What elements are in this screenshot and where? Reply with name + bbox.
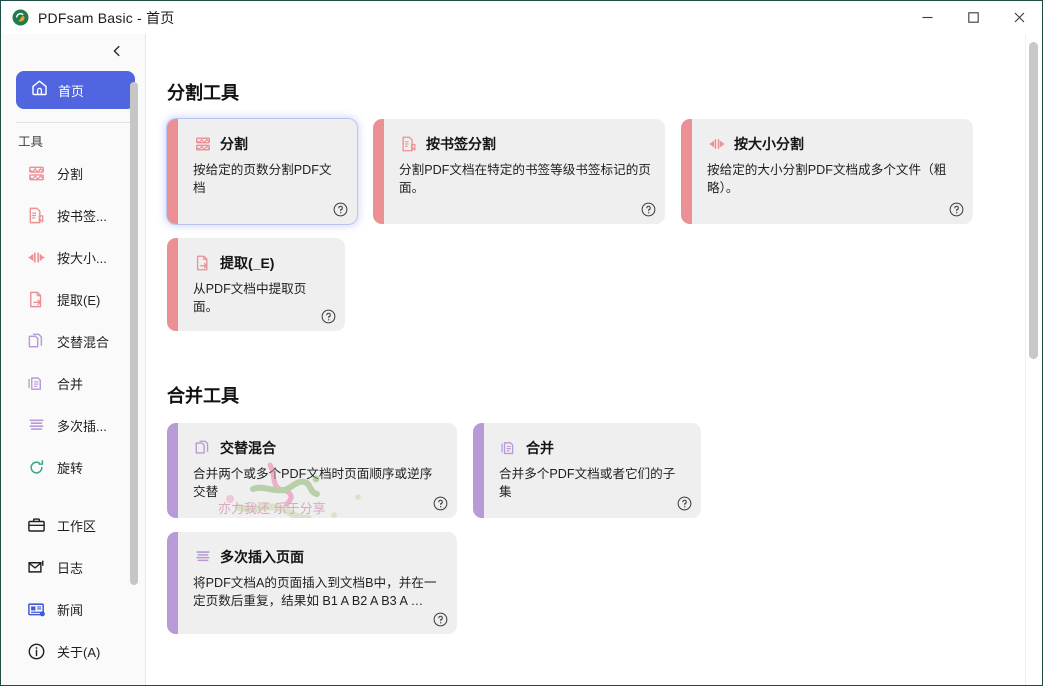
card-merge[interactable]: 合并 合并多个PDF文档或者它们的子集 (473, 423, 701, 518)
sidebar-collapse-row (2, 34, 145, 68)
help-icon[interactable] (433, 496, 448, 511)
card-split[interactable]: 分割 按给定的页数分割PDF文档 (167, 119, 357, 224)
split-tools-row-2: 提取(_E) 从PDF文档中提取页面。 (167, 238, 1026, 331)
sidebar-item-rotate[interactable]: 旋转 (2, 446, 145, 488)
section-title-split: 分割工具 (167, 79, 1026, 105)
sidebar-item-log[interactable]: 日志 (2, 546, 145, 588)
extract-icon (193, 254, 212, 273)
alternate-mix-icon (26, 331, 47, 352)
window-title: PDFsam Basic - 首页 (38, 8, 174, 28)
split-icon (26, 163, 47, 184)
card-repeat-insert[interactable]: 多次插入页面 将PDF文档A的页面插入到文档B中，并在一定页数后重复，结果如 B… (167, 532, 457, 634)
sidebar-item-label-home: 首页 (58, 81, 84, 100)
card-accent-bar (167, 423, 178, 518)
repeat-insert-icon (26, 415, 47, 436)
card-accent-bar (167, 238, 178, 331)
merge-icon (26, 373, 47, 394)
card-split-by-size[interactable]: 按大小分割 按给定的大小分割PDF文档成多个文件（粗略）。 (681, 119, 973, 224)
card-extract[interactable]: 提取(_E) 从PDF文档中提取页面。 (167, 238, 345, 331)
merge-tools-row-1: 交替混合 合并两个或多个PDF文档时页面顺序或逆序交替 (167, 423, 1026, 518)
watermark-text: 亦力我还 乐于分享 (218, 501, 326, 516)
merge-tools-row-2: 多次插入页面 将PDF文档A的页面插入到文档B中，并在一定页数后重复，结果如 B… (167, 532, 1026, 634)
alternate-mix-icon (193, 439, 212, 458)
sidebar-item-split[interactable]: 分割 (2, 152, 145, 194)
card-description: 按给定的页数分割PDF文档 (193, 161, 343, 197)
card-body: 按书签分割 分割PDF文档在特定的书签等级书签标记的页面。 (384, 119, 665, 224)
news-icon (26, 599, 47, 620)
main-content: 分割工具 分割 (146, 34, 1026, 686)
sidebar-item-label: 合并 (57, 374, 83, 393)
pdfsam-logo-icon (12, 9, 29, 26)
split-tools-row-1: 分割 按给定的页数分割PDF文档 (167, 119, 1026, 224)
sidebar-section-tools: 工具 (18, 131, 145, 150)
card-description: 合并两个或多个PDF文档时页面顺序或逆序交替 (193, 465, 443, 501)
merge-icon (499, 439, 518, 458)
sidebar-item-label: 提取(E) (57, 290, 100, 309)
help-icon[interactable] (949, 202, 964, 217)
split-icon (193, 135, 212, 154)
split-by-bookmark-icon (26, 205, 47, 226)
rotate-icon (26, 457, 47, 478)
card-title: 分割 (220, 134, 248, 154)
card-header: 提取(_E) (193, 253, 331, 273)
sidebar-item-workspace[interactable]: 工作区 (2, 504, 145, 546)
card-description: 按给定的大小分割PDF文档成多个文件（粗略）。 (707, 161, 959, 197)
title-bar: PDFsam Basic - 首页 (1, 1, 1042, 34)
card-body: 按大小分割 按给定的大小分割PDF文档成多个文件（粗略）。 (692, 119, 973, 224)
card-description: 合并多个PDF文档或者它们的子集 (499, 465, 687, 501)
sidebar-item-label: 多次插... (57, 416, 107, 435)
log-mail-icon (26, 557, 47, 578)
sidebar-item-label: 分割 (57, 164, 83, 183)
card-header: 分割 (193, 134, 343, 154)
sidebar-item-label: 按书签... (57, 206, 107, 225)
card-body: 多次插入页面 将PDF文档A的页面插入到文档B中，并在一定页数后重复，结果如 B… (178, 532, 457, 634)
sidebar-item-split-by-size[interactable]: 按大小... (2, 236, 145, 278)
split-by-size-icon (26, 247, 47, 268)
section-title-merge: 合并工具 (167, 382, 1026, 408)
card-accent-bar (373, 119, 384, 224)
card-title: 提取(_E) (220, 253, 274, 273)
card-title: 多次插入页面 (220, 547, 304, 567)
card-title: 合并 (526, 438, 554, 458)
sidebar-item-label: 日志 (57, 558, 83, 577)
card-body: 提取(_E) 从PDF文档中提取页面。 (178, 238, 345, 331)
sidebar-item-label: 交替混合 (57, 332, 109, 351)
sidebar-bottom-gap (2, 488, 145, 504)
help-icon[interactable] (333, 202, 348, 217)
card-body: 合并 合并多个PDF文档或者它们的子集 (484, 423, 701, 518)
info-icon (26, 641, 47, 662)
extract-icon (26, 289, 47, 310)
card-accent-bar (473, 423, 484, 518)
card-header: 合并 (499, 438, 687, 458)
card-header: 按书签分割 (399, 134, 651, 154)
close-button[interactable] (996, 1, 1042, 34)
card-accent-bar (681, 119, 692, 224)
minimize-button[interactable] (904, 1, 950, 34)
card-header: 交替混合 (193, 438, 443, 458)
maximize-button[interactable] (950, 1, 996, 34)
sidebar-item-label: 工作区 (57, 516, 96, 535)
page-scrollbar[interactable] (1029, 42, 1038, 359)
card-description: 从PDF文档中提取页面。 (193, 280, 331, 316)
card-header: 多次插入页面 (193, 547, 443, 567)
card-description: 分割PDF文档在特定的书签等级书签标记的页面。 (399, 161, 651, 197)
sidebar-item-alternate-mix[interactable]: 交替混合 (2, 320, 145, 362)
card-body: 分割 按给定的页数分割PDF文档 (178, 119, 357, 224)
help-icon[interactable] (433, 612, 448, 627)
card-split-by-bookmark[interactable]: 按书签分割 分割PDF文档在特定的书签等级书签标记的页面。 (373, 119, 665, 224)
sidebar-divider (16, 122, 131, 123)
sidebar: 首页 工具 分割 (2, 34, 146, 686)
card-accent-bar (167, 532, 178, 634)
card-alternate-mix[interactable]: 交替混合 合并两个或多个PDF文档时页面顺序或逆序交替 (167, 423, 457, 518)
split-by-size-icon (707, 135, 726, 154)
card-header: 按大小分割 (707, 134, 959, 154)
sidebar-item-label: 关于(A) (57, 642, 100, 661)
card-body: 交替混合 合并两个或多个PDF文档时页面顺序或逆序交替 (178, 423, 457, 518)
sidebar-item-about[interactable]: 关于(A) (2, 630, 145, 672)
sidebar-item-home[interactable]: 首页 (16, 71, 135, 109)
sidebar-item-label: 旋转 (57, 458, 83, 477)
sidebar-item-label: 新闻 (57, 600, 83, 619)
card-accent-bar (167, 119, 178, 224)
repeat-insert-icon (193, 548, 212, 567)
sidebar-item-split-by-bookmark[interactable]: 按书签... (2, 194, 145, 236)
pdfsam-window: PDFsam Basic - 首页 首页 (0, 0, 1043, 686)
card-title: 交替混合 (220, 438, 276, 458)
sidebar-item-extract[interactable]: 提取(E) (2, 278, 145, 320)
card-title: 按书签分割 (426, 134, 496, 154)
sidebar-item-news[interactable]: 新闻 (2, 588, 145, 630)
sidebar-scrollbar[interactable] (130, 82, 138, 585)
card-description: 将PDF文档A的页面插入到文档B中，并在一定页数后重复，结果如 B1 A B2 … (193, 574, 443, 610)
help-icon[interactable] (641, 202, 656, 217)
help-icon[interactable] (321, 309, 336, 324)
chevron-left-icon[interactable] (107, 41, 127, 61)
card-title: 按大小分割 (734, 134, 804, 154)
sidebar-item-repeat-insert[interactable]: 多次插... (2, 404, 145, 446)
workspace-icon (26, 515, 47, 536)
split-by-bookmark-icon (399, 135, 418, 154)
help-icon[interactable] (677, 496, 692, 511)
home-icon (30, 78, 49, 102)
sidebar-item-merge[interactable]: 合并 (2, 362, 145, 404)
sidebar-item-label: 按大小... (57, 248, 107, 267)
